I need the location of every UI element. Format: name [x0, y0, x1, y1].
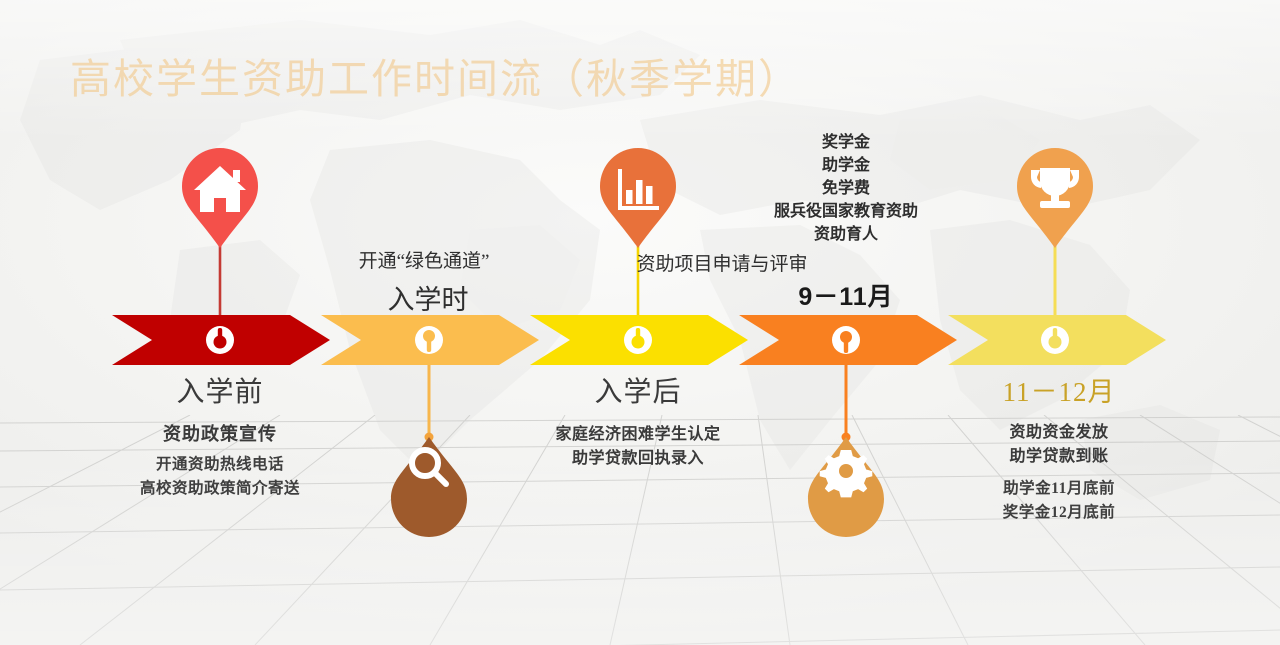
segment-4-list-item-3: 免学费 [822, 177, 870, 200]
segment-1-main-text: 资助政策宣传 [163, 420, 277, 446]
segment-5-sub-text-3: 助学金11月底前 [1003, 476, 1115, 498]
segment-4-list-item-2: 助学金 [822, 154, 870, 177]
segment-4-list-item-5: 资助育人 [814, 223, 878, 246]
arrow-node-5[interactable] [1041, 326, 1069, 354]
segment-3-sub-text-2: 助学贷款回执录入 [572, 444, 704, 468]
gear-icon [820, 450, 873, 497]
segment-4-list-item-4: 服兵役国家教育资助 [774, 200, 918, 223]
segment-3-stage-label: 入学后 [594, 370, 681, 410]
timeline-band [0, 0, 1280, 645]
arrow-node-2[interactable] [415, 326, 443, 354]
segment-5-sub-text-1: 资助资金发放 [1009, 418, 1108, 442]
segment-1-stage-label: 入学前 [176, 370, 263, 410]
marker-house[interactable] [182, 148, 258, 248]
segment-4-list-item-1: 奖学金 [822, 131, 870, 154]
segment-5-sub-text-4: 奖学金12月底前 [1003, 500, 1116, 522]
segment-2-above-text: 开通“绿色通道” [359, 246, 490, 273]
segment-2-stage-label: 入学时 [388, 278, 469, 317]
arrow-node-4[interactable] [832, 326, 860, 354]
marker-gear[interactable] [808, 433, 884, 538]
segment-5-sub-text-2: 助学贷款到账 [1009, 442, 1108, 466]
marker-magnifier[interactable] [391, 433, 467, 538]
marker-trophy[interactable] [1017, 148, 1093, 248]
segment-1-sub-text-1: 开通资助热线电话 [156, 452, 284, 474]
segment-3-above-text: 资助项目申请与评审 [636, 249, 807, 276]
segment-1-sub-text-2: 高校资助政策简介寄送 [140, 476, 300, 498]
marker-bar-chart[interactable] [600, 148, 676, 248]
segment-5-stage-label: 11－12月 [1003, 370, 1116, 409]
segment-3-sub-text-1: 家庭经济困难学生认定 [555, 420, 720, 444]
slide-canvas: 高校学生资助工作时间流（秋季学期） [0, 0, 1280, 645]
arrow-node-3[interactable] [624, 326, 652, 354]
arrow-node-1[interactable] [206, 326, 234, 354]
segment-4-month-label: 9－11月 [798, 277, 893, 313]
